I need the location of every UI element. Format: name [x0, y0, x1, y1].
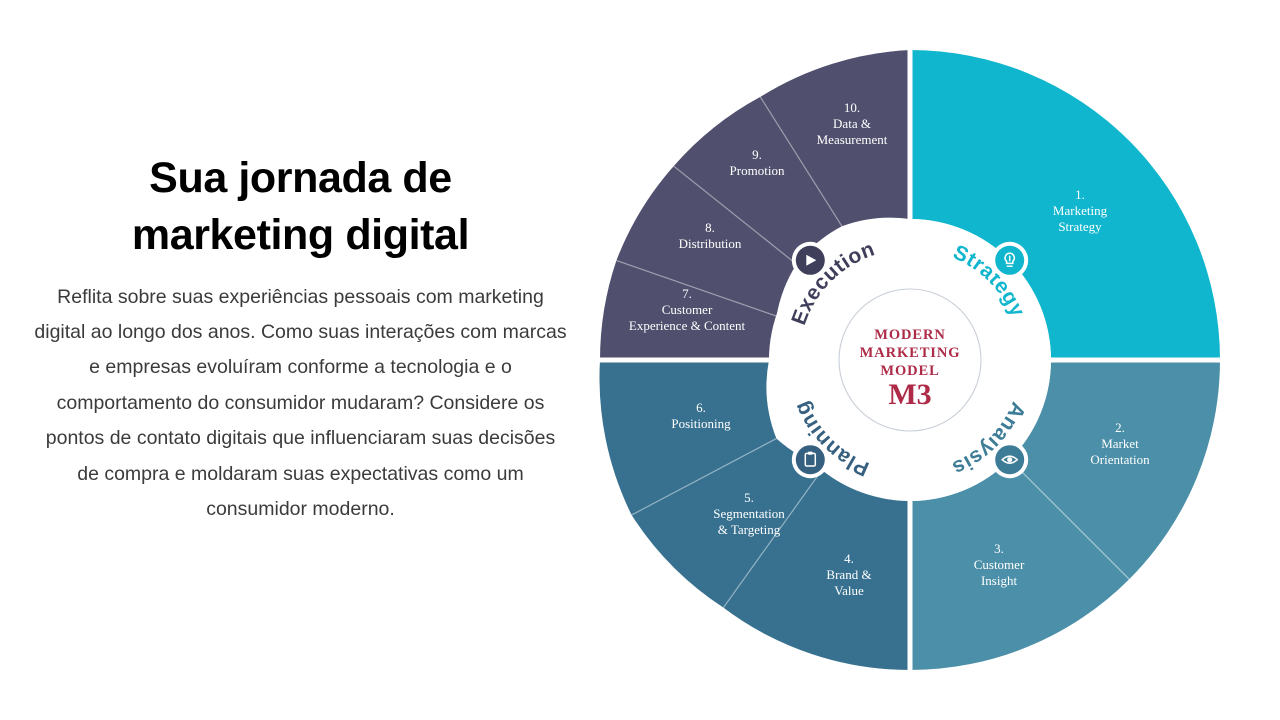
- quadrant-icon-strategy[interactable]: [991, 242, 1028, 279]
- svg-text:8.: 8.: [705, 220, 715, 235]
- text-column: Sua jornada de marketing digital Reflita…: [28, 150, 573, 528]
- hub-line-3: MODEL: [880, 363, 939, 379]
- svg-text:9.: 9.: [752, 147, 762, 162]
- svg-text:1.: 1.: [1075, 187, 1085, 202]
- slide-root: Sua jornada de marketing digital Reflita…: [0, 0, 1280, 720]
- svg-text:Distribution: Distribution: [679, 236, 742, 251]
- svg-text:Insight: Insight: [981, 573, 1018, 588]
- svg-text:Measurement: Measurement: [817, 132, 888, 147]
- svg-text:4.: 4.: [844, 551, 854, 566]
- svg-text:Positioning: Positioning: [671, 416, 731, 431]
- svg-text:Market: Market: [1101, 436, 1139, 451]
- donut-chart: MODERN MARKETING MODEL M3 Strategy Analy…: [590, 26, 1240, 698]
- svg-text:Value: Value: [834, 583, 864, 598]
- hub-line-2: MARKETING: [860, 345, 961, 361]
- svg-text:Segmentation: Segmentation: [713, 506, 785, 521]
- svg-text:Data &: Data &: [833, 116, 871, 131]
- svg-text:3.: 3.: [994, 541, 1004, 556]
- svg-text:Promotion: Promotion: [730, 163, 785, 178]
- quadrant-icon-analysis[interactable]: [991, 441, 1028, 478]
- svg-text:Strategy: Strategy: [1058, 219, 1102, 234]
- hub-model-code: M3: [888, 378, 931, 411]
- quadrant-icon-execution[interactable]: [792, 242, 829, 279]
- svg-text:2.: 2.: [1115, 420, 1125, 435]
- svg-text:Customer: Customer: [974, 557, 1025, 572]
- svg-text:Experience & Content: Experience & Content: [629, 318, 746, 333]
- svg-text:Brand &: Brand &: [826, 567, 871, 582]
- svg-text:5.: 5.: [744, 490, 754, 505]
- body-paragraph: Reflita sobre suas experiências pessoais…: [28, 280, 573, 528]
- svg-text:6.: 6.: [696, 400, 706, 415]
- quadrant-icon-planning[interactable]: [792, 441, 829, 478]
- page-title: Sua jornada de marketing digital: [28, 150, 573, 264]
- svg-text:7.: 7.: [682, 286, 692, 301]
- svg-text:Orientation: Orientation: [1090, 452, 1150, 467]
- svg-text:Marketing: Marketing: [1053, 203, 1108, 218]
- svg-text:10.: 10.: [844, 100, 860, 115]
- svg-text:& Targeting: & Targeting: [718, 522, 781, 537]
- svg-text:Customer: Customer: [662, 302, 713, 317]
- hub-line-1: MODERN: [874, 327, 945, 343]
- marketing-model-diagram: MODERN MARKETING MODEL M3 Strategy Analy…: [590, 26, 1240, 698]
